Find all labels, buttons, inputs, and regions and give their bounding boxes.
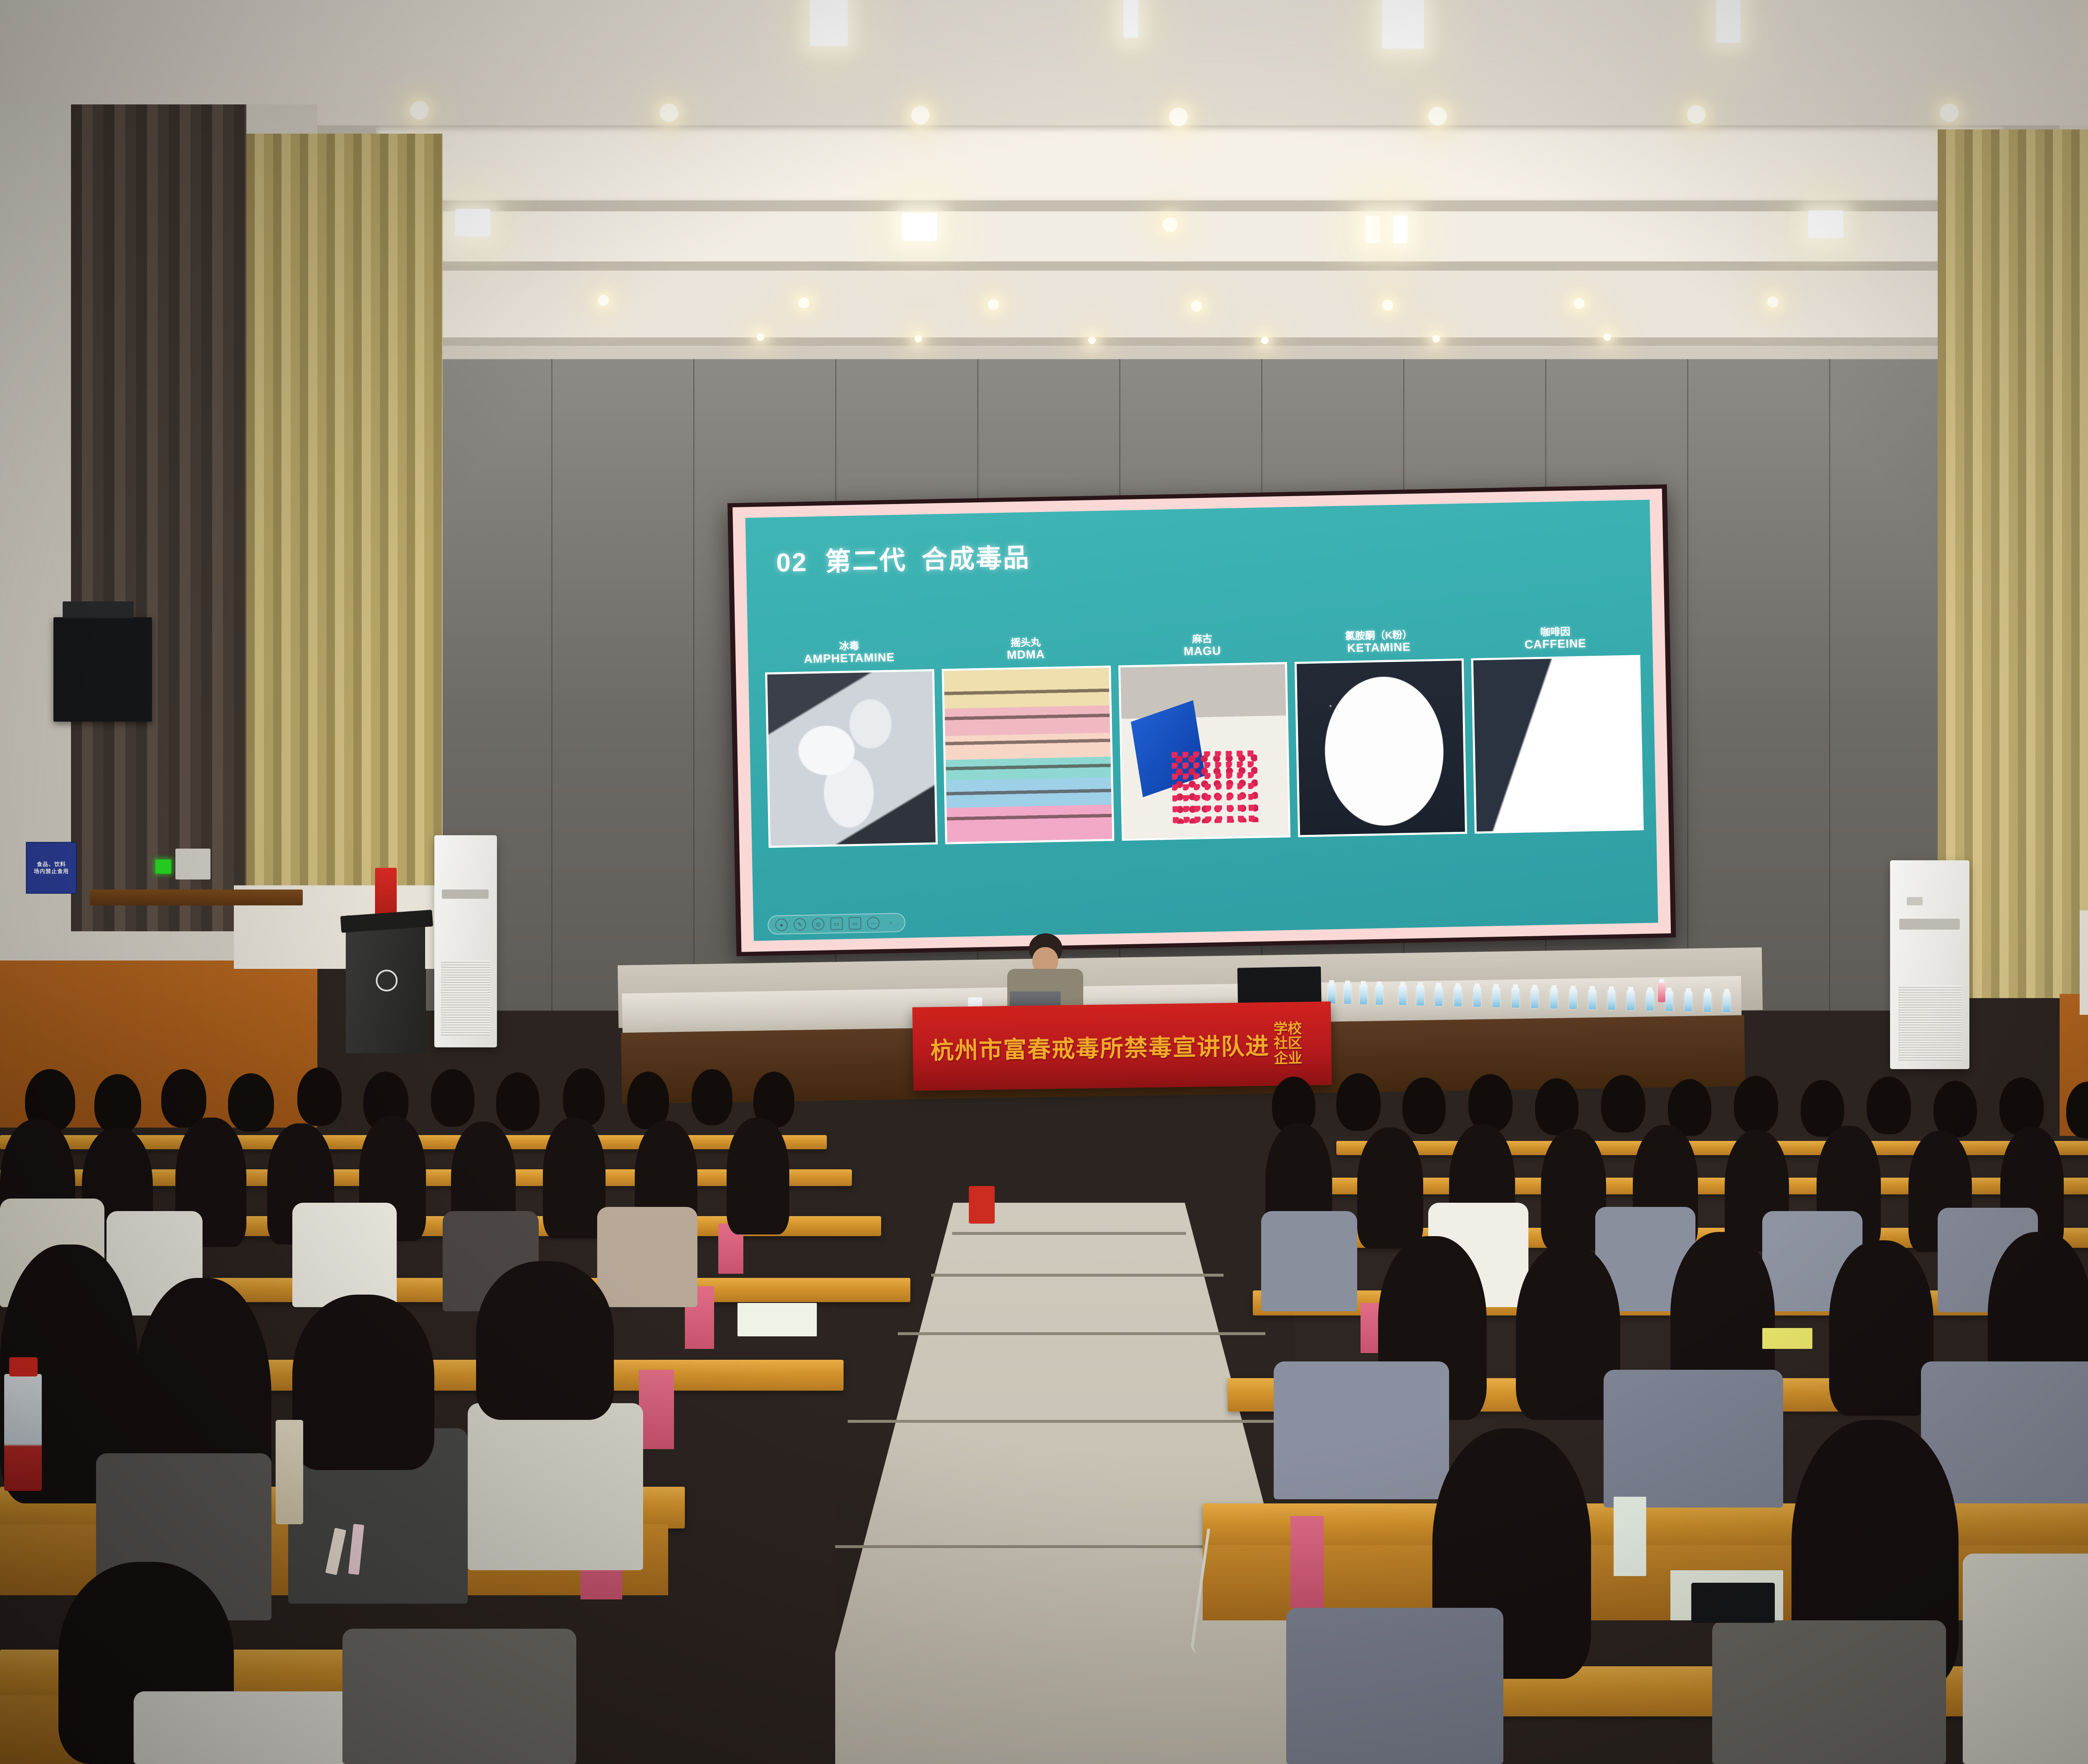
wall-speaker-left bbox=[53, 617, 152, 722]
ceiling-light bbox=[1163, 217, 1178, 232]
water-bottle bbox=[1685, 991, 1692, 1011]
water-bottle bbox=[4, 1374, 42, 1491]
drug-label-cn: 摇头丸 bbox=[1011, 637, 1041, 649]
ceiling-light bbox=[1191, 301, 1202, 312]
student-torso bbox=[1712, 1620, 1946, 1764]
student-head bbox=[1336, 1073, 1381, 1131]
ceiling-light bbox=[1716, 0, 1741, 43]
student-torso bbox=[1261, 1211, 1357, 1311]
drug-label-en: CAFFEINE bbox=[1524, 637, 1586, 651]
ketamine-powder-image bbox=[1295, 659, 1467, 837]
water-bottle bbox=[1608, 990, 1615, 1010]
student-torso bbox=[134, 1691, 351, 1764]
slide-title: 02第二代合成毒品 bbox=[776, 536, 1031, 579]
drug-item: 麻古 MAGU bbox=[1117, 632, 1291, 841]
student-head bbox=[228, 1073, 274, 1132]
curtain-dark-left bbox=[71, 104, 246, 931]
sign-line2: 场内禁止食用 bbox=[34, 869, 69, 874]
water-bottle bbox=[1704, 992, 1711, 1012]
water-bottle bbox=[1589, 989, 1596, 1009]
ceiling-light bbox=[1261, 337, 1269, 344]
floor-standing-ac-left bbox=[434, 835, 497, 1047]
bottle-cap bbox=[9, 1357, 38, 1376]
student-head bbox=[1933, 1081, 1977, 1138]
water-bottle bbox=[1344, 984, 1351, 1004]
ceiling-soffit bbox=[376, 125, 2004, 200]
student-hair bbox=[292, 1295, 434, 1470]
smartphone bbox=[1691, 1583, 1775, 1623]
caption-icon[interactable]: ▭ bbox=[849, 917, 862, 930]
aisle-step bbox=[898, 1332, 1265, 1335]
slide-title-part2: 合成毒品 bbox=[921, 543, 1030, 574]
aisle-step bbox=[952, 1232, 1186, 1235]
ceiling-light bbox=[1767, 297, 1778, 307]
student-torso bbox=[1286, 1608, 1503, 1764]
student-head bbox=[496, 1072, 540, 1131]
thermos-bottle bbox=[276, 1420, 303, 1524]
caffeine-powder-image bbox=[1471, 655, 1644, 834]
ceiling-light bbox=[1123, 0, 1138, 38]
projection-screen[interactable]: 02第二代合成毒品 冰毒 AMPHETAMINE 摇头丸 MDMA 麻古 bbox=[727, 484, 1676, 956]
student-head bbox=[431, 1069, 474, 1127]
student-head bbox=[161, 1069, 206, 1128]
water-bottle bbox=[1399, 985, 1406, 1005]
student-head bbox=[1999, 1077, 2044, 1135]
student-hair bbox=[727, 1118, 789, 1234]
drug-label-cn: 氯胺酮（K粉） bbox=[1345, 630, 1413, 641]
wall-ledge-left bbox=[90, 890, 303, 905]
desk-side-panel bbox=[1290, 1516, 1324, 1608]
podium-emblem bbox=[376, 970, 398, 991]
auditorium-photo: 食品、饮料 场内禁止食用 食品、饮料 场内禁止食用 02第二代合成毒品 bbox=[0, 0, 2088, 1764]
drug-label-en: MAGU bbox=[1183, 644, 1221, 659]
drug-item: 氯胺酮（K粉） KETAMINE bbox=[1294, 629, 1467, 837]
ceiling-light bbox=[1432, 335, 1440, 342]
ceiling-light bbox=[1687, 105, 1705, 124]
fire-bucket bbox=[969, 1186, 995, 1224]
student-head bbox=[297, 1067, 342, 1126]
student-hair bbox=[1357, 1128, 1423, 1249]
ceiling-light bbox=[757, 333, 764, 341]
student-torso bbox=[1963, 1554, 2088, 1764]
ceiling-light bbox=[598, 295, 609, 306]
student-torso bbox=[468, 1403, 643, 1570]
water-bottle bbox=[1435, 986, 1442, 1006]
ceiling-light bbox=[911, 106, 930, 124]
ceiling-light bbox=[1382, 0, 1424, 48]
student-head bbox=[1402, 1077, 1446, 1134]
water-bottle bbox=[1454, 986, 1462, 1006]
student-torso bbox=[292, 1203, 397, 1307]
ceiling-light bbox=[798, 297, 809, 308]
speaker-bracket-left bbox=[63, 601, 134, 618]
drug-label-cn: 麻古 bbox=[1192, 634, 1212, 645]
banner-main-text: 杭州市富春戒毒所禁毒宣讲队进 bbox=[930, 1027, 1270, 1066]
water-bottle bbox=[1493, 987, 1500, 1007]
water-bottle bbox=[1360, 984, 1367, 1004]
ceiling-light bbox=[1382, 300, 1393, 311]
slide-section-number: 02 bbox=[776, 548, 808, 577]
curtain-gold-left bbox=[246, 134, 443, 969]
slides-icon[interactable]: ▭ bbox=[830, 917, 843, 930]
student-head bbox=[1734, 1076, 1778, 1133]
drug-item: 咖啡因 CAFFEINE bbox=[1471, 625, 1644, 834]
drug-label-en: KETAMINE bbox=[1347, 640, 1411, 655]
slide-title-part1: 第二代 bbox=[825, 546, 907, 576]
pen-icon[interactable]: ✎ bbox=[793, 918, 806, 931]
colored-pills-image bbox=[942, 666, 1114, 844]
ceiling-light bbox=[1393, 215, 1407, 243]
screen-border: 02第二代合成毒品 冰毒 AMPHETAMINE 摇头丸 MDMA 麻古 bbox=[732, 489, 1671, 952]
banner-stacked-text: 学校 社区 企业 bbox=[1273, 1021, 1302, 1066]
ceiling-light bbox=[1808, 210, 1843, 238]
drug-gallery: 冰毒 AMPHETAMINE 摇头丸 MDMA 麻古 MAGU bbox=[765, 625, 1644, 848]
banner-stack-line: 学校 bbox=[1273, 1021, 1302, 1037]
event-banner: 杭州市富春戒毒所禁毒宣讲队进 学校 社区 企业 bbox=[912, 1001, 1332, 1091]
control-box bbox=[175, 849, 210, 879]
water-bottle bbox=[1627, 990, 1634, 1010]
green-led-display bbox=[155, 859, 171, 874]
water-bottle bbox=[1723, 992, 1731, 1012]
water-bottle bbox=[1376, 985, 1383, 1005]
student-torso bbox=[1604, 1370, 1783, 1508]
drug-item: 冰毒 AMPHETAMINE bbox=[765, 639, 938, 848]
ceiling-light bbox=[1088, 337, 1096, 344]
wall-lower-right bbox=[2080, 910, 2088, 1015]
water-bottle bbox=[1550, 988, 1558, 1009]
ceiling-light bbox=[410, 101, 428, 119]
drug-label-cn: 咖啡因 bbox=[1540, 627, 1570, 638]
student-torso bbox=[1274, 1361, 1449, 1499]
student-hair bbox=[1829, 1240, 1933, 1416]
presenter-toolbar[interactable]: ● ✎ ◎ ▭ ▭ ⋯ ‹ bbox=[768, 913, 906, 935]
water-bottle bbox=[1416, 986, 1424, 1006]
aisle-step bbox=[848, 1420, 1315, 1423]
water-bottle bbox=[1473, 987, 1481, 1007]
ceiling-light bbox=[902, 213, 937, 241]
desk-side-panel bbox=[639, 1370, 674, 1449]
drug-label-en: AMPHETAMINE bbox=[804, 651, 895, 666]
banner-stack-line: 企业 bbox=[1274, 1051, 1302, 1066]
water-bottle bbox=[1646, 991, 1654, 1011]
student-head bbox=[1468, 1074, 1513, 1132]
student-head bbox=[94, 1074, 141, 1133]
red-bottle bbox=[1658, 982, 1665, 1002]
workbook bbox=[1762, 1328, 1812, 1349]
student-hair bbox=[543, 1118, 606, 1239]
banner-stack-line: 社区 bbox=[1274, 1036, 1302, 1051]
drug-label-en: MDMA bbox=[1007, 648, 1045, 662]
ceiling-light bbox=[660, 104, 678, 122]
magu-pills-image bbox=[1118, 662, 1291, 841]
student-hair bbox=[476, 1261, 614, 1420]
water-bottle bbox=[1328, 983, 1335, 1004]
floor-standing-ac-right bbox=[1890, 860, 1969, 1069]
presentation-slide: 02第二代合成毒品 冰毒 AMPHETAMINE 摇头丸 MDMA 麻古 bbox=[745, 500, 1658, 941]
student-head bbox=[692, 1069, 732, 1125]
desk-row bbox=[1315, 1178, 2088, 1194]
student-torso bbox=[597, 1207, 697, 1307]
drug-item: 摇头丸 MDMA bbox=[941, 636, 1114, 844]
ceiling-light bbox=[915, 335, 922, 342]
student-torso bbox=[342, 1629, 576, 1764]
aisle-step bbox=[931, 1274, 1224, 1277]
ceiling-light bbox=[988, 299, 999, 310]
student-head bbox=[1535, 1078, 1579, 1135]
ceiling-light bbox=[1940, 104, 1959, 122]
water-bottle bbox=[1512, 988, 1519, 1008]
collapse-icon[interactable]: ‹ bbox=[885, 917, 897, 928]
desk-row bbox=[1336, 1141, 2088, 1155]
water-bottle bbox=[1569, 989, 1577, 1009]
ceiling-light bbox=[1366, 215, 1380, 243]
ceiling-light bbox=[1169, 108, 1188, 126]
ceiling-light bbox=[1604, 333, 1611, 341]
more-icon[interactable]: ⋯ bbox=[867, 917, 880, 930]
milk-carton bbox=[1614, 1497, 1646, 1576]
notice-sign-left: 食品、饮料 场内禁止食用 bbox=[26, 842, 77, 894]
ceiling-light bbox=[1428, 107, 1447, 125]
student-head bbox=[563, 1068, 605, 1126]
sign-line1: 食品、饮料 bbox=[37, 862, 66, 867]
water-bottle bbox=[1531, 988, 1538, 1008]
student-head bbox=[1601, 1075, 1645, 1133]
highlighter-icon[interactable]: ◎ bbox=[812, 918, 825, 931]
ceiling-light bbox=[810, 0, 848, 46]
notebook bbox=[737, 1303, 817, 1336]
ceiling-light bbox=[455, 209, 490, 236]
ceiling-light bbox=[1574, 298, 1584, 309]
water-bottle bbox=[1665, 991, 1673, 1011]
pointer-icon[interactable]: ● bbox=[775, 918, 788, 931]
drug-label-cn: 冰毒 bbox=[839, 641, 859, 652]
student-head bbox=[1867, 1077, 1911, 1134]
crystal-meth-image bbox=[765, 669, 938, 848]
